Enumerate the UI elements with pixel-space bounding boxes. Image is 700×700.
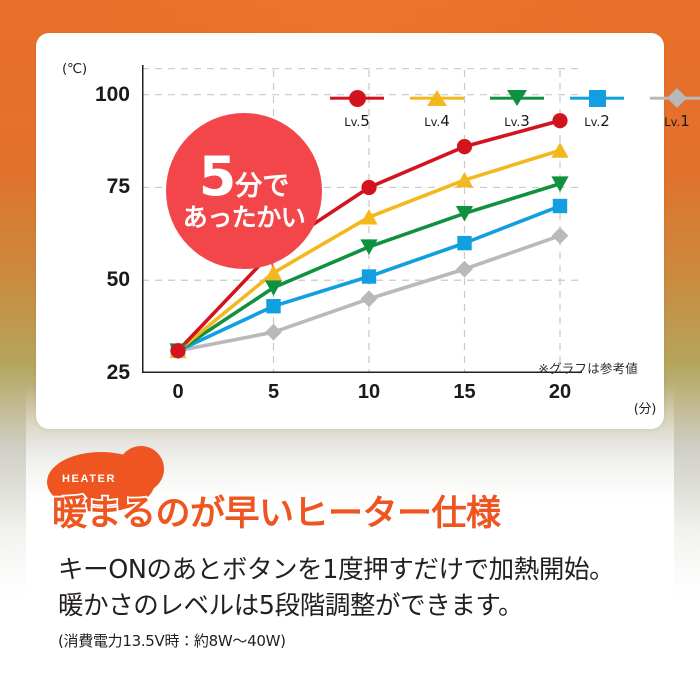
legend-marker-square-icon	[568, 85, 626, 111]
legend-glyph	[589, 90, 606, 107]
body-line-1: キーONのあとボタンを1度押すだけで加熱開始。	[58, 552, 658, 588]
x-tick-20: 20	[549, 381, 571, 404]
data-point-lv2	[362, 269, 376, 283]
legend-label: Lv.3	[488, 112, 546, 130]
heater-badge-label: HEATER	[62, 473, 116, 485]
data-point-lv5	[170, 343, 185, 358]
legend-label: Lv.5	[328, 112, 386, 130]
callout-suffix: 分で	[235, 173, 289, 200]
page-title: 暖まるのが早いヒーター仕様	[52, 485, 501, 536]
legend-glyph	[427, 90, 447, 106]
x-tick-5: 5	[268, 381, 279, 404]
legend-label: Lv.2	[568, 112, 626, 130]
legend-label: Lv.4	[408, 112, 466, 130]
callout-number: 5	[199, 151, 235, 202]
legend-glyph	[507, 90, 527, 106]
callout-bubble: 5 分で あったかい	[166, 113, 322, 269]
data-point-lv1	[552, 227, 569, 244]
legend-glyph	[667, 88, 687, 108]
body-copy: キーONのあとボタンを1度押すだけで加熱開始。 暖かさのレベルは5段階調整ができ…	[58, 552, 658, 651]
y-tick-75: 75	[107, 175, 130, 199]
legend-item-lv3: Lv.3	[488, 85, 546, 130]
body-line-2: 暖かさのレベルは5段階調整ができます。	[58, 588, 658, 624]
legend-item-lv1: Lv.1	[648, 85, 700, 130]
data-point-lv5	[457, 139, 472, 154]
callout-line-1: 5 分で	[199, 151, 290, 202]
data-point-lv2	[553, 199, 567, 213]
legend-marker-circle-icon	[328, 85, 386, 111]
data-point-lv3	[360, 239, 377, 255]
legend-label: Lv.1	[648, 112, 700, 130]
data-point-lv1	[361, 290, 378, 307]
x-axis-unit-label: (分)	[634, 398, 656, 417]
y-tick-100: 100	[95, 83, 130, 107]
data-point-lv1	[456, 261, 473, 278]
y-tick-50: 50	[107, 268, 130, 292]
legend-item-lv5: Lv.5	[328, 85, 386, 130]
legend-item-lv2: Lv.2	[568, 85, 626, 130]
legend-marker-diamond-icon	[648, 85, 700, 111]
x-tick-0: 0	[172, 381, 183, 404]
data-point-lv5	[361, 180, 376, 195]
chart-reference-note: ※グラフは参考値	[538, 358, 638, 377]
data-point-lv2	[266, 299, 280, 313]
legend-marker-triangle-down-icon	[488, 85, 546, 111]
power-consumption-note: (消費電力13.5V時：約8W〜40W)	[58, 630, 658, 651]
x-tick-10: 10	[358, 381, 380, 404]
legend-glyph	[349, 90, 366, 107]
callout-bubble-tail	[264, 228, 288, 268]
legend-item-lv4: Lv.4	[408, 85, 466, 130]
heading-section: HEATER 暖まるのが早いヒーター仕様	[0, 452, 700, 524]
y-axis-unit-label: (℃)	[62, 61, 87, 77]
data-point-lv1	[265, 324, 282, 341]
y-tick-25: 25	[107, 361, 130, 385]
chart-legend: Lv.5Lv.4Lv.3Lv.2Lv.1	[328, 85, 700, 130]
callout-line-2: あったかい	[183, 205, 306, 231]
legend-marker-triangle-up-icon	[408, 85, 466, 111]
data-point-lv2	[457, 236, 471, 250]
x-tick-15: 15	[453, 381, 475, 404]
data-point-lv4	[551, 142, 568, 158]
data-point-lv4	[360, 209, 377, 225]
chart-card: (℃) (分) 255075100 05101520 Lv.5Lv.4Lv.3L…	[36, 33, 664, 429]
